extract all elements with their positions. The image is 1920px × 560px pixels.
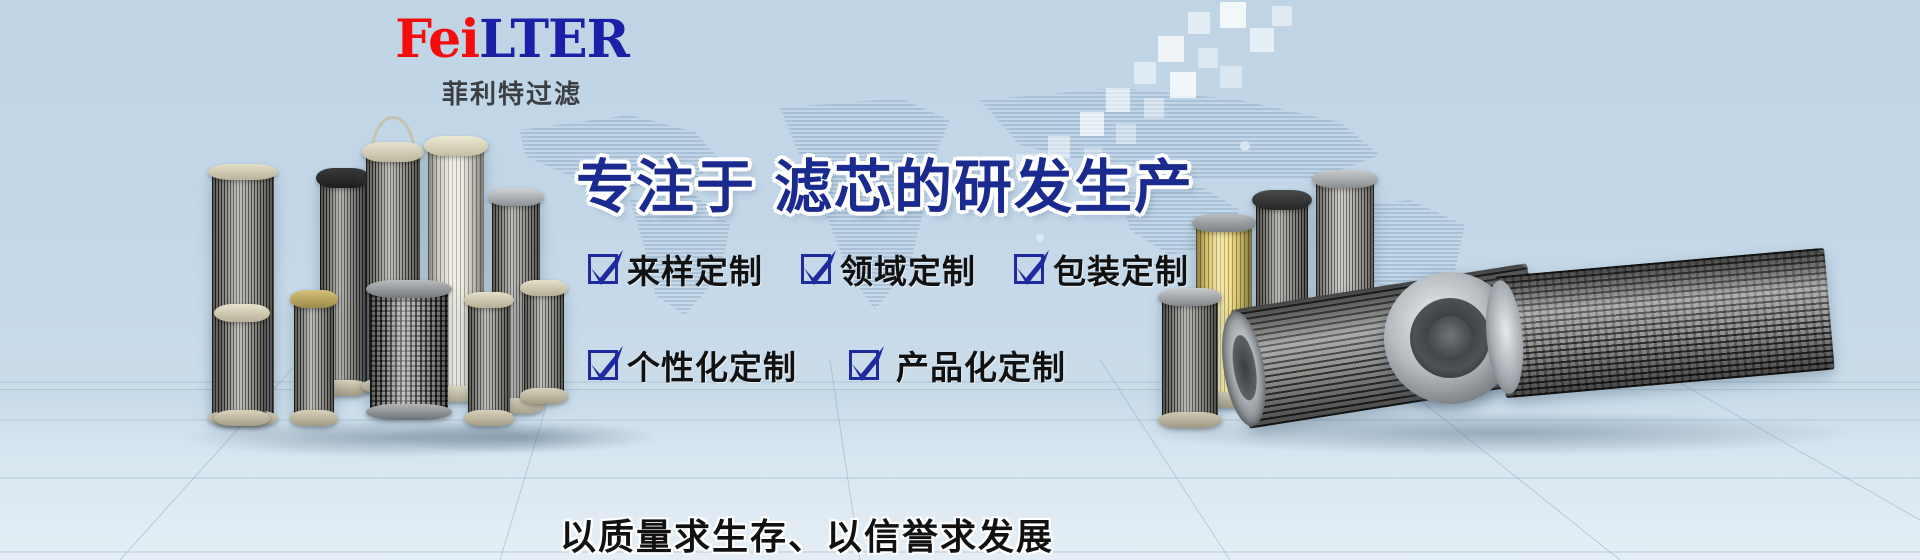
feature-label: 包装定制 — [1053, 245, 1189, 293]
logo-chinese-name: 菲利特过滤 — [392, 74, 632, 111]
brand-logo[interactable]: FeiLTER 菲利特过滤 — [392, 12, 632, 111]
feature-label: 个性化定制 — [627, 341, 797, 389]
logo-wordmark-red: Fei — [395, 9, 479, 70]
feature-item[interactable]: 领域定制 — [801, 245, 976, 293]
feature-label: 领域定制 — [840, 245, 976, 293]
feature-row: 来样定制 领域定制 包装定制 — [588, 245, 1189, 293]
filter-cartridge-pleated — [428, 144, 484, 394]
tagline: 以质量求生存、以信誉求发展 — [560, 508, 1054, 560]
checkbox-checked-icon — [588, 254, 618, 284]
feature-label: 来样定制 — [627, 245, 763, 293]
promo-banner: FeiLTER 菲利特过滤 专注于滤芯的研发生产 来样定制 领域定制 — [0, 0, 1920, 560]
filter-cartridge-with-handle — [366, 150, 420, 386]
checkbox-checked-icon — [801, 254, 831, 284]
headline-part2: 滤芯的研发生产 — [774, 153, 1194, 221]
headline-part1: 专注于 — [576, 153, 756, 221]
feature-row: 个性化定制 产品化定制 — [588, 341, 1189, 389]
feature-list: 来样定制 领域定制 包装定制 个性化定制 — [588, 245, 1189, 389]
checkbox-checked-icon — [588, 350, 618, 380]
filter-cartridge — [320, 176, 366, 388]
checkbox-checked-icon — [849, 350, 879, 380]
feature-item[interactable]: 包装定制 — [1014, 245, 1189, 293]
feature-item[interactable]: 来样定制 — [588, 245, 763, 293]
logo-wordmark-blue: LTER — [479, 9, 629, 70]
feature-item[interactable]: 个性化定制 — [588, 341, 797, 389]
logo-wordmark: FeiLTER — [392, 12, 632, 68]
feature-item[interactable]: 产品化定制 — [849, 341, 1066, 389]
checkbox-checked-icon — [1014, 254, 1044, 284]
headline: 专注于滤芯的研发生产 — [576, 140, 1194, 224]
feature-label: 产品化定制 — [896, 341, 1066, 389]
